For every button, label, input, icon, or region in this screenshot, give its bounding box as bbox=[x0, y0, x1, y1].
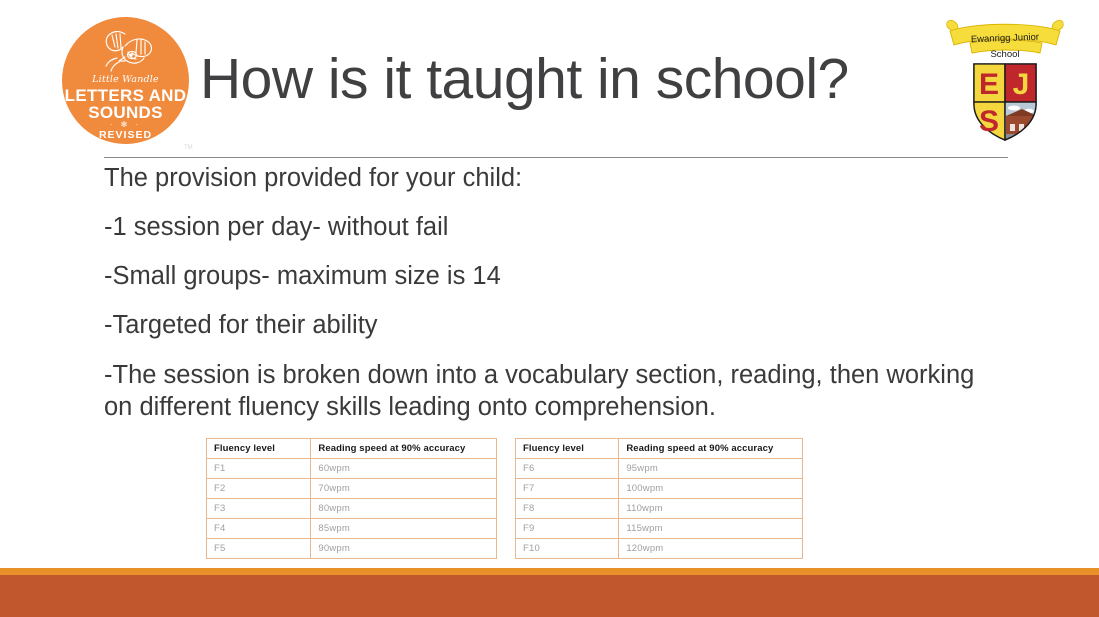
cell-reading-speed: 95wpm bbox=[619, 459, 803, 479]
cell-reading-speed: 60wpm bbox=[311, 459, 497, 479]
logo-dot-ornament: · ✻ · bbox=[62, 121, 189, 129]
body-paragraph-3: -Small groups- maximum size is 14 bbox=[104, 261, 1034, 291]
body-paragraph-2: -1 session per day- without fail bbox=[104, 212, 1034, 242]
footer-band bbox=[0, 575, 1099, 617]
logo-line-two: SOUNDS bbox=[62, 104, 189, 121]
body-paragraph-5: -The session is broken down into a vocab… bbox=[104, 359, 1009, 423]
svg-text:J: J bbox=[1013, 68, 1030, 101]
logo-script-word: Little Wandle bbox=[62, 74, 189, 85]
table-row: F7 100wpm bbox=[516, 479, 803, 499]
column-header-fluency-level: Fluency level bbox=[207, 439, 311, 459]
logo-line-one: LETTERS AND bbox=[62, 87, 189, 104]
cell-fluency-level: F7 bbox=[516, 479, 619, 499]
table-header-row: Fluency level Reading speed at 90% accur… bbox=[516, 439, 803, 459]
school-crest-logo: Ewanrigg Junior School E J S bbox=[930, 12, 1080, 152]
column-header-reading-speed: Reading speed at 90% accuracy bbox=[311, 439, 497, 459]
body-paragraph-4: -Targeted for their ability bbox=[104, 310, 1034, 340]
cell-reading-speed: 90wpm bbox=[311, 539, 497, 559]
svg-text:S: S bbox=[979, 105, 999, 138]
title-divider bbox=[104, 157, 1008, 158]
cell-fluency-level: F6 bbox=[516, 459, 619, 479]
svg-text:E: E bbox=[979, 68, 999, 101]
slide-body: The provision provided for your child: -… bbox=[104, 163, 1034, 423]
table-row: F6 95wpm bbox=[516, 459, 803, 479]
footer-stripe bbox=[0, 568, 1099, 575]
cell-reading-speed: 120wpm bbox=[619, 539, 803, 559]
table-row: F4 85wpm bbox=[207, 519, 497, 539]
cell-fluency-level: F9 bbox=[516, 519, 619, 539]
crest-shield-icon: E J S bbox=[974, 64, 1037, 142]
table-row: F2 70wpm bbox=[207, 479, 497, 499]
table-row: F8 110wpm bbox=[516, 499, 803, 519]
table-row: F3 80wpm bbox=[207, 499, 497, 519]
fluency-table-right: Fluency level Reading speed at 90% accur… bbox=[515, 438, 803, 559]
table-header-row: Fluency level Reading speed at 90% accur… bbox=[207, 439, 497, 459]
cell-reading-speed: 80wpm bbox=[311, 499, 497, 519]
column-header-reading-speed: Reading speed at 90% accuracy bbox=[619, 439, 803, 459]
table-row: F5 90wpm bbox=[207, 539, 497, 559]
page-title: How is it taught in school? bbox=[200, 44, 930, 114]
table-row: F1 60wpm bbox=[207, 459, 497, 479]
cell-reading-speed: 110wpm bbox=[619, 499, 803, 519]
cell-fluency-level: F3 bbox=[207, 499, 311, 519]
cell-fluency-level: F10 bbox=[516, 539, 619, 559]
column-header-fluency-level: Fluency level bbox=[516, 439, 619, 459]
body-paragraph-1: The provision provided for your child: bbox=[104, 163, 1034, 193]
table-row: F10 120wpm bbox=[516, 539, 803, 559]
cell-fluency-level: F4 bbox=[207, 519, 311, 539]
owl-icon bbox=[95, 28, 157, 74]
logo-trademark: TM bbox=[184, 145, 193, 151]
cell-reading-speed: 100wpm bbox=[619, 479, 803, 499]
cell-fluency-level: F5 bbox=[207, 539, 311, 559]
cell-reading-speed: 70wpm bbox=[311, 479, 497, 499]
cell-reading-speed: 85wpm bbox=[311, 519, 497, 539]
cell-fluency-level: F2 bbox=[207, 479, 311, 499]
fluency-table-left: Fluency level Reading speed at 90% accur… bbox=[206, 438, 497, 559]
crest-banner-line2: School bbox=[990, 49, 1019, 60]
little-wandle-logo: Little Wandle LETTERS AND SOUNDS · ✻ · R… bbox=[62, 17, 189, 144]
table-row: F9 115wpm bbox=[516, 519, 803, 539]
cell-fluency-level: F1 bbox=[207, 459, 311, 479]
logo-revised-label: REVISED bbox=[62, 129, 189, 141]
slide-canvas: Little Wandle LETTERS AND SOUNDS · ✻ · R… bbox=[0, 0, 1099, 617]
cell-fluency-level: F8 bbox=[516, 499, 619, 519]
cell-reading-speed: 115wpm bbox=[619, 519, 803, 539]
